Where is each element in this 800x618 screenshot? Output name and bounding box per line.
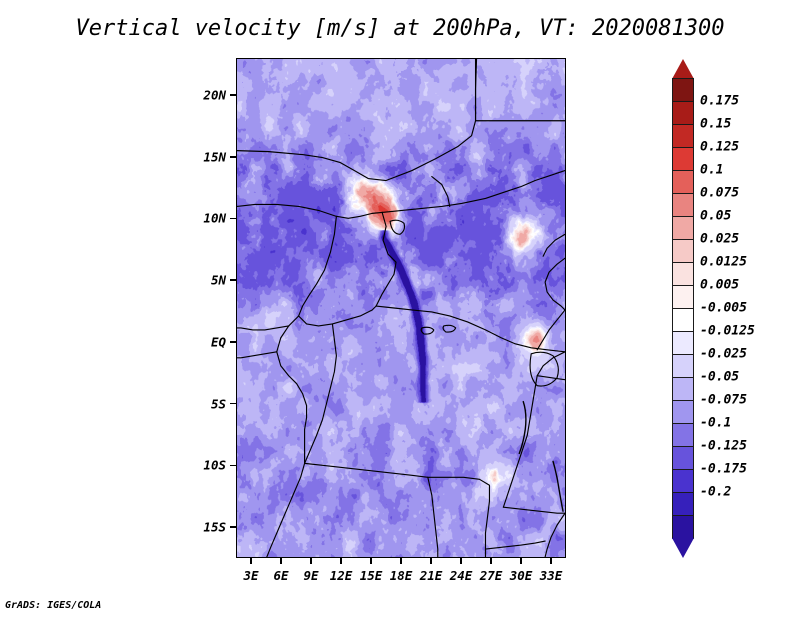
colorbar-label: -0.0125 bbox=[700, 324, 755, 339]
y-axis-label: 15N bbox=[174, 149, 226, 164]
x-axis-label: 9E bbox=[303, 568, 318, 583]
x-axis-label: 12E bbox=[330, 568, 353, 583]
x-tick bbox=[310, 558, 312, 564]
colorbar-label: -0.1 bbox=[700, 416, 731, 431]
y-axis-label: 5N bbox=[174, 273, 226, 288]
colorbar-bottom-arrow bbox=[672, 538, 694, 558]
y-tick bbox=[230, 465, 236, 467]
colorbar-label: 0.025 bbox=[700, 232, 739, 247]
x-tick bbox=[490, 558, 492, 564]
colorbar-top-arrow bbox=[672, 59, 694, 79]
x-tick bbox=[400, 558, 402, 564]
x-axis-label: 24E bbox=[450, 568, 473, 583]
colorbar-label: -0.05 bbox=[700, 370, 739, 385]
y-axis-label: EQ bbox=[174, 334, 226, 349]
colorbar-band bbox=[672, 170, 694, 194]
y-axis-label: 15S bbox=[174, 520, 226, 535]
x-axis-label: 21E bbox=[420, 568, 443, 583]
colorbar-band bbox=[672, 285, 694, 309]
colorbar-label: -0.075 bbox=[700, 393, 747, 408]
colorbar-band bbox=[672, 78, 694, 102]
colorbar-label: -0.025 bbox=[700, 347, 747, 362]
y-tick bbox=[230, 94, 236, 96]
colorbar-band bbox=[672, 147, 694, 171]
colorbar-band bbox=[672, 515, 694, 539]
y-axis-label: 10N bbox=[174, 211, 226, 226]
x-tick bbox=[430, 558, 432, 564]
page-title: Vertical velocity [m/s] at 200hPa, VT: 2… bbox=[0, 16, 800, 41]
colorbar-label: -0.125 bbox=[700, 439, 747, 454]
x-tick bbox=[370, 558, 372, 564]
colorbar-label: 0.0125 bbox=[700, 255, 747, 270]
x-axis-label: 33E bbox=[540, 568, 563, 583]
y-tick bbox=[230, 403, 236, 405]
colorbar-label: 0.05 bbox=[700, 209, 731, 224]
footer-credit: GrADS: IGES/COLA bbox=[5, 600, 101, 611]
colorbar-band bbox=[672, 423, 694, 447]
y-axis-label: 10S bbox=[174, 458, 226, 473]
colorbar-label: -0.175 bbox=[700, 462, 747, 477]
colorbar-label: 0.005 bbox=[700, 278, 739, 293]
colorbar-band bbox=[672, 193, 694, 217]
x-tick bbox=[520, 558, 522, 564]
x-tick bbox=[460, 558, 462, 564]
y-tick bbox=[230, 526, 236, 528]
y-axis-label: 20N bbox=[174, 88, 226, 103]
colorbar-band bbox=[672, 354, 694, 378]
colorbar: 0.1750.150.1250.10.0750.050.0250.01250.0… bbox=[672, 78, 694, 538]
x-axis-label: 6E bbox=[273, 568, 288, 583]
map-plot-area bbox=[236, 58, 566, 558]
colorbar-band bbox=[672, 492, 694, 516]
x-axis-label: 30E bbox=[510, 568, 533, 583]
colorbar-band bbox=[672, 377, 694, 401]
colorbar-label: 0.075 bbox=[700, 186, 739, 201]
colorbar-band bbox=[672, 308, 694, 332]
colorbar-band bbox=[672, 216, 694, 240]
y-tick bbox=[230, 341, 236, 343]
colorbar-band bbox=[672, 124, 694, 148]
colorbar-label: 0.125 bbox=[700, 140, 739, 155]
colorbar-label: -0.005 bbox=[700, 301, 747, 316]
colorbar-band bbox=[672, 262, 694, 286]
colorbar-band bbox=[672, 239, 694, 263]
x-axis-label: 3E bbox=[243, 568, 258, 583]
x-tick bbox=[280, 558, 282, 564]
colorbar-label: 0.1 bbox=[700, 163, 723, 178]
y-tick bbox=[230, 156, 236, 158]
country-borders-overlay bbox=[237, 59, 565, 557]
y-axis-label: 5S bbox=[174, 396, 226, 411]
x-tick bbox=[340, 558, 342, 564]
colorbar-band bbox=[672, 469, 694, 493]
colorbar-label: -0.2 bbox=[700, 485, 731, 500]
x-tick bbox=[550, 558, 552, 564]
x-tick bbox=[250, 558, 252, 564]
y-tick bbox=[230, 218, 236, 220]
colorbar-label: 0.15 bbox=[700, 117, 731, 132]
x-axis-label: 18E bbox=[390, 568, 413, 583]
colorbar-label: 0.175 bbox=[700, 94, 739, 109]
y-tick bbox=[230, 279, 236, 281]
colorbar-band bbox=[672, 400, 694, 424]
x-axis-label: 15E bbox=[360, 568, 383, 583]
colorbar-band bbox=[672, 331, 694, 355]
colorbar-band bbox=[672, 446, 694, 470]
x-axis-label: 27E bbox=[480, 568, 503, 583]
colorbar-band bbox=[672, 101, 694, 125]
